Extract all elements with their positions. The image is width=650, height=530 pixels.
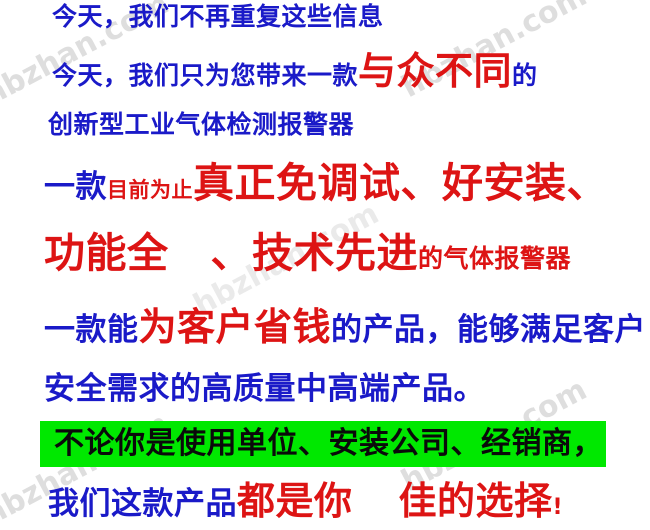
headline-line-7: 安全需求的高质量中高端产品。 [44,374,485,405]
line-4-lead-text: 一款 [44,172,107,203]
line-5-trail-text: 的气体报警器 [418,246,571,271]
headline-line-6: 一款能为客户省钱的产品，能够满足客户 [44,308,646,346]
line-6-trail-text: 的产品，能够满足客户 [331,315,646,346]
line-3-text: 创新型工业气体检测报警器 [48,112,354,137]
headline-line-1: 今天，我们不再重复这些信息 [52,4,384,29]
headline-line-4: 一款目前为止真正免调试、好安装、 [44,163,608,204]
line-2-lead-text: 今天，我们只为您带来一款 [52,63,358,88]
line-2-trail-text: 的 [512,63,538,88]
headline-line-2: 今天，我们只为您带来一款与众不同的 [52,52,538,90]
line-5-emphasis-text-a: 功能全 [44,233,169,274]
line-4-small-red-text: 目前为止 [107,180,193,201]
headline-line-5: 功能全、技术先进的气体报警器 [44,233,571,274]
headline-line-3: 创新型工业气体检测报警器 [48,112,354,137]
line-4-emphasis-text-b: 好安装、 [442,163,608,204]
line-4-emphasis-text-a: 真正免调试、 [193,163,442,204]
line-9-exclamation: ! [553,497,563,519]
line-6-emphasis-text: 为客户省钱 [139,308,332,346]
line-6-lead-text: 一款能 [44,315,139,346]
highlighted-callout-row: 不论你是使用单位、安装公司、经销商， [40,421,606,467]
promo-banner: 今天，我们不再重复这些信息 今天，我们只为您带来一款与众不同的 创新型工业气体检… [0,0,650,530]
headline-line-9: 我们这款产品都是你佳的选择! [48,482,563,520]
line-2-emphasis-text: 与众不同 [358,52,512,90]
line-5-emphasis-text-b: 、技术先进 [211,233,419,274]
highlighted-callout-text: 不论你是使用单位、安装公司、经销商， [54,429,603,459]
line-9-emphasis-text-a: 都是你 [237,482,353,520]
line-9-emphasis-text-b: 佳的选择 [399,482,553,520]
line-1-text: 今天，我们不再重复这些信息 [52,4,384,29]
line-9-lead-text: 我们这款产品 [48,489,237,520]
line-7-text: 安全需求的高质量中高端产品。 [44,374,485,405]
